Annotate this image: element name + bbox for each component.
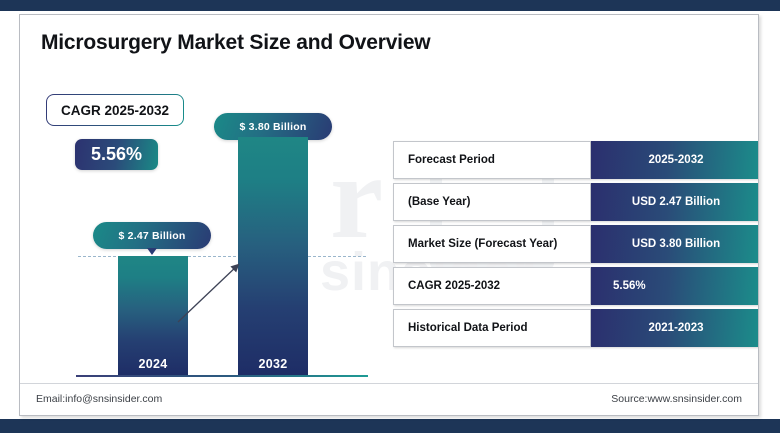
table-row-value-cell: 5.56% xyxy=(591,267,759,305)
growth-arrow-icon xyxy=(174,258,246,326)
bottom-accent-bar xyxy=(0,419,780,433)
table-label-market-size-forecast: Market Size (Forecast Year) xyxy=(408,238,557,250)
summary-table: Forecast Period 2025-2032 (Base Year) US… xyxy=(393,141,759,351)
data-label-2024: $ 2.47 Billion xyxy=(119,230,186,242)
table-value-forecast-period: 2025-2032 xyxy=(649,154,704,166)
table-label-base-year: (Base Year) xyxy=(408,196,470,208)
table-value-market-size-forecast: USD 3.80 Billion xyxy=(632,238,720,250)
footer-source[interactable]: Source:www.snsinsider.com xyxy=(611,393,742,405)
table-row-label-cell: CAGR 2025-2032 xyxy=(393,267,591,305)
footer-email[interactable]: Email:info@snsinsider.com xyxy=(36,393,162,405)
table-row-label-cell: Forecast Period xyxy=(393,141,591,179)
table-row-value-cell: USD 2.47 Billion xyxy=(591,183,759,221)
table-row: CAGR 2025-2032 5.56% xyxy=(393,267,759,305)
chart-baseline xyxy=(76,375,368,377)
table-value-base-year: USD 2.47 Billion xyxy=(632,196,720,208)
table-label-historical-period: Historical Data Period xyxy=(408,322,528,334)
table-row-value-cell: 2021-2023 xyxy=(591,309,759,347)
table-label-forecast-period: Forecast Period xyxy=(408,154,495,166)
table-value-cagr: 5.56% xyxy=(613,280,646,292)
table-row-label-cell: (Base Year) xyxy=(393,183,591,221)
table-row-value-cell: 2025-2032 xyxy=(591,141,759,179)
data-label-2032: $ 3.80 Billion xyxy=(240,121,307,133)
table-row: Historical Data Period 2021-2023 xyxy=(393,309,759,347)
top-accent-bar xyxy=(0,0,780,11)
footer-divider xyxy=(20,383,758,384)
bar-chart: $ 3.80 Billion $ 2.47 Billion 2024 2032 xyxy=(66,110,366,385)
table-row-value-cell: USD 3.80 Billion xyxy=(591,225,759,263)
table-row-label-cell: Historical Data Period xyxy=(393,309,591,347)
data-label-pill-2032: $ 3.80 Billion xyxy=(214,113,332,140)
table-value-historical-period: 2021-2023 xyxy=(649,322,704,334)
infographic-card: r sinsider Microsurgery Market Size and … xyxy=(19,14,759,416)
bar-2032: 2032 xyxy=(238,137,308,375)
table-row: (Base Year) USD 2.47 Billion xyxy=(393,183,759,221)
bar-category-label-2032: 2032 xyxy=(238,357,308,371)
data-label-pill-2024: $ 2.47 Billion xyxy=(93,222,211,249)
table-row: Forecast Period 2025-2032 xyxy=(393,141,759,179)
table-label-cagr: CAGR 2025-2032 xyxy=(408,280,500,292)
page-title: Microsurgery Market Size and Overview xyxy=(41,31,430,55)
table-row-label-cell: Market Size (Forecast Year) xyxy=(393,225,591,263)
table-row: Market Size (Forecast Year) USD 3.80 Bil… xyxy=(393,225,759,263)
bar-category-label-2024: 2024 xyxy=(118,357,188,371)
